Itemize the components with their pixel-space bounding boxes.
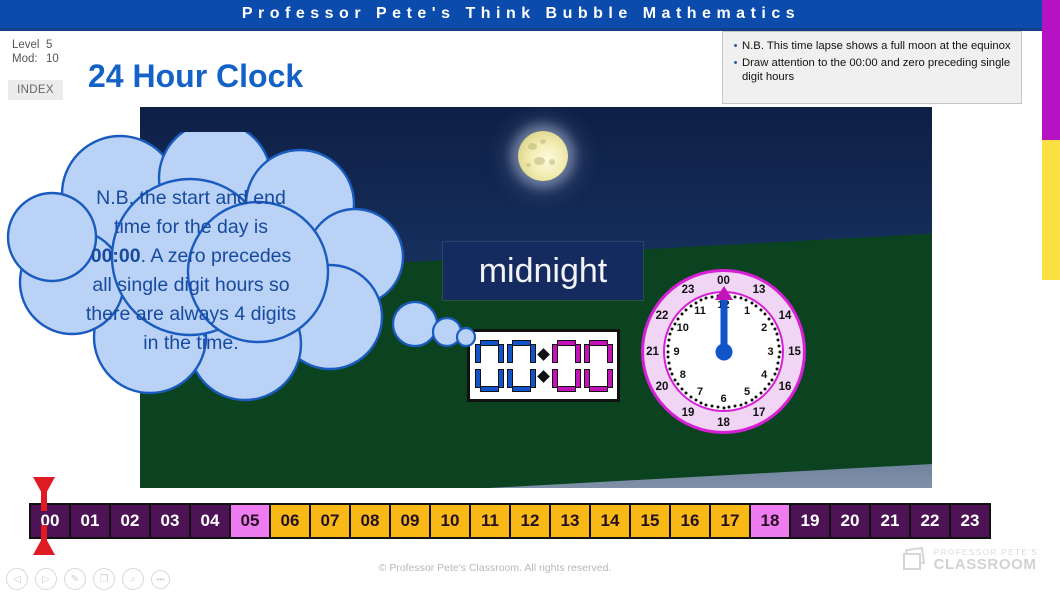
photo-stack-icon [902,548,928,572]
lesson-meta: Level 5 Mod: 10 [12,38,82,66]
hour-cell-10[interactable]: 10 [431,505,471,537]
hour-cell-19[interactable]: 19 [791,505,831,537]
brand-line-bottom: CLASSROOM [934,557,1038,572]
clock-hour-numeral-5: 5 [744,386,750,398]
hour-cell-15[interactable]: 15 [631,505,671,537]
bubble-line-1: N.B. the start and end [96,187,286,209]
hour-cell-11[interactable]: 11 [471,505,511,537]
hour-cell-20[interactable]: 20 [831,505,871,537]
clock-hour-numeral-4: 4 [761,369,767,381]
hour-cell-02[interactable]: 02 [111,505,151,537]
pen-button[interactable]: ✎ [64,568,86,590]
hour-cell-17[interactable]: 17 [711,505,751,537]
clock-colon-separator [539,350,549,381]
teacher-notes-panel: • N.B. This time lapse shows a full moon… [722,31,1022,104]
hour-cell-08[interactable]: 08 [351,505,391,537]
bubble-line-2: time for the day is [114,216,268,238]
clock-numeral-15: 15 [788,346,801,358]
bubble-line-5: there are always 4 digits [86,303,296,325]
app-title-bar: Professor Pete's Think Bubble Mathematic… [0,0,1042,28]
clock-numeral-13: 13 [753,284,766,296]
hour-cell-03[interactable]: 03 [151,505,191,537]
brand-logo: PROFESSOR PETE'S CLASSROOM [902,548,1038,572]
hour-cell-06[interactable]: 06 [271,505,311,537]
hour-cell-05[interactable]: 05 [231,505,271,537]
clock-hour-numeral-11: 11 [694,305,706,317]
full-moon-icon [518,131,568,181]
level-value: 5 [46,38,52,52]
clock-numeral-21: 21 [646,346,659,358]
hour-cell-21[interactable]: 21 [871,505,911,537]
zoom-button[interactable]: ⌕ [122,568,144,590]
mod-value: 10 [46,52,59,66]
clock-hour-numeral-1: 1 [744,305,750,317]
digit-hour-ones [507,340,536,392]
sidebar-color-bar-magenta [1042,0,1060,140]
hour-cell-16[interactable]: 16 [671,505,711,537]
next-button[interactable]: ▷ [35,568,57,590]
more-button[interactable]: ••• [151,570,170,589]
brand-wordmark: PROFESSOR PETE'S CLASSROOM [934,548,1038,572]
digit-minute-ones [584,340,613,392]
clock-hour-numeral-2: 2 [761,322,767,334]
hour-cell-04[interactable]: 04 [191,505,231,537]
app-title: Professor Pete's Think Bubble Mathematic… [242,5,800,23]
thought-bubble-text: N.B. the start and endtime for the day i… [56,184,326,358]
digit-minute-tens [552,340,581,392]
bullet-icon: • [729,56,742,84]
page-title: 24 Hour Clock [88,58,303,95]
bubble-line-4: all single digit hours so [92,274,289,296]
hour-cell-01[interactable]: 01 [71,505,111,537]
digital-clock [467,329,620,402]
level-row: Level 5 [12,38,82,52]
clock-numeral-19: 19 [682,407,695,419]
note-item: • N.B. This time lapse shows a full moon… [729,39,1013,53]
thought-bubble: N.B. the start and endtime for the day i… [0,132,480,402]
hour-cell-18[interactable]: 18 [751,505,791,537]
hour-cell-09[interactable]: 09 [391,505,431,537]
note-text: Draw attention to the 00:00 and zero pre… [742,56,1013,84]
level-label: Level [12,38,46,52]
clock-hour-numeral-8: 8 [680,369,686,381]
note-item: • Draw attention to the 00:00 and zero p… [729,56,1013,84]
mod-label: Mod: [12,52,46,66]
clock-hour-numeral-3: 3 [767,346,773,358]
analog-24-hour-clock: 001314151617181920212223 123456789101112 [641,269,806,434]
bubble-line-6: in the time. [143,332,238,354]
clock-numeral-23: 23 [682,284,695,296]
clock-center-pivot [715,343,732,360]
hour-cell-22[interactable]: 22 [911,505,951,537]
note-text: N.B. This time lapse shows a full moon a… [742,39,1013,53]
hour-strip[interactable]: 0001020304050607080910111213141516171819… [29,503,991,539]
clock-hour-numeral-7: 7 [697,386,703,398]
hour-cell-12[interactable]: 12 [511,505,551,537]
hour-cell-00[interactable]: 00 [31,505,71,537]
clock-hour-numeral-10: 10 [677,322,689,334]
clock-numeral-18: 18 [717,417,730,429]
clock-hour-numeral-9: 9 [673,346,679,358]
clock-numeral-16: 16 [779,381,792,393]
previous-button[interactable]: ◁ [6,568,28,590]
clock-hour-numeral-6: 6 [720,393,726,405]
index-button[interactable]: INDEX [8,80,63,100]
clock-hand-arrowhead [715,286,733,300]
hour-cell-07[interactable]: 07 [311,505,351,537]
clock-numeral-14: 14 [779,310,792,322]
bubble-bold-time: 00:00 [91,245,141,267]
bubble-line-3: . A zero precedes [141,245,292,267]
hour-cell-13[interactable]: 13 [551,505,591,537]
hour-cell-14[interactable]: 14 [591,505,631,537]
duplicate-button[interactable]: ❐ [93,568,115,590]
bullet-icon: • [729,39,742,53]
hour-cell-23[interactable]: 23 [951,505,989,537]
clock-numeral-22: 22 [656,310,669,322]
mod-row: Mod: 10 [12,52,82,66]
bottom-toolbar[interactable]: ◁▷✎❐⌕••• [6,568,170,590]
clock-numeral-17: 17 [753,407,766,419]
sidebar-color-bar-yellow [1042,140,1060,280]
clock-numeral-20: 20 [656,381,669,393]
